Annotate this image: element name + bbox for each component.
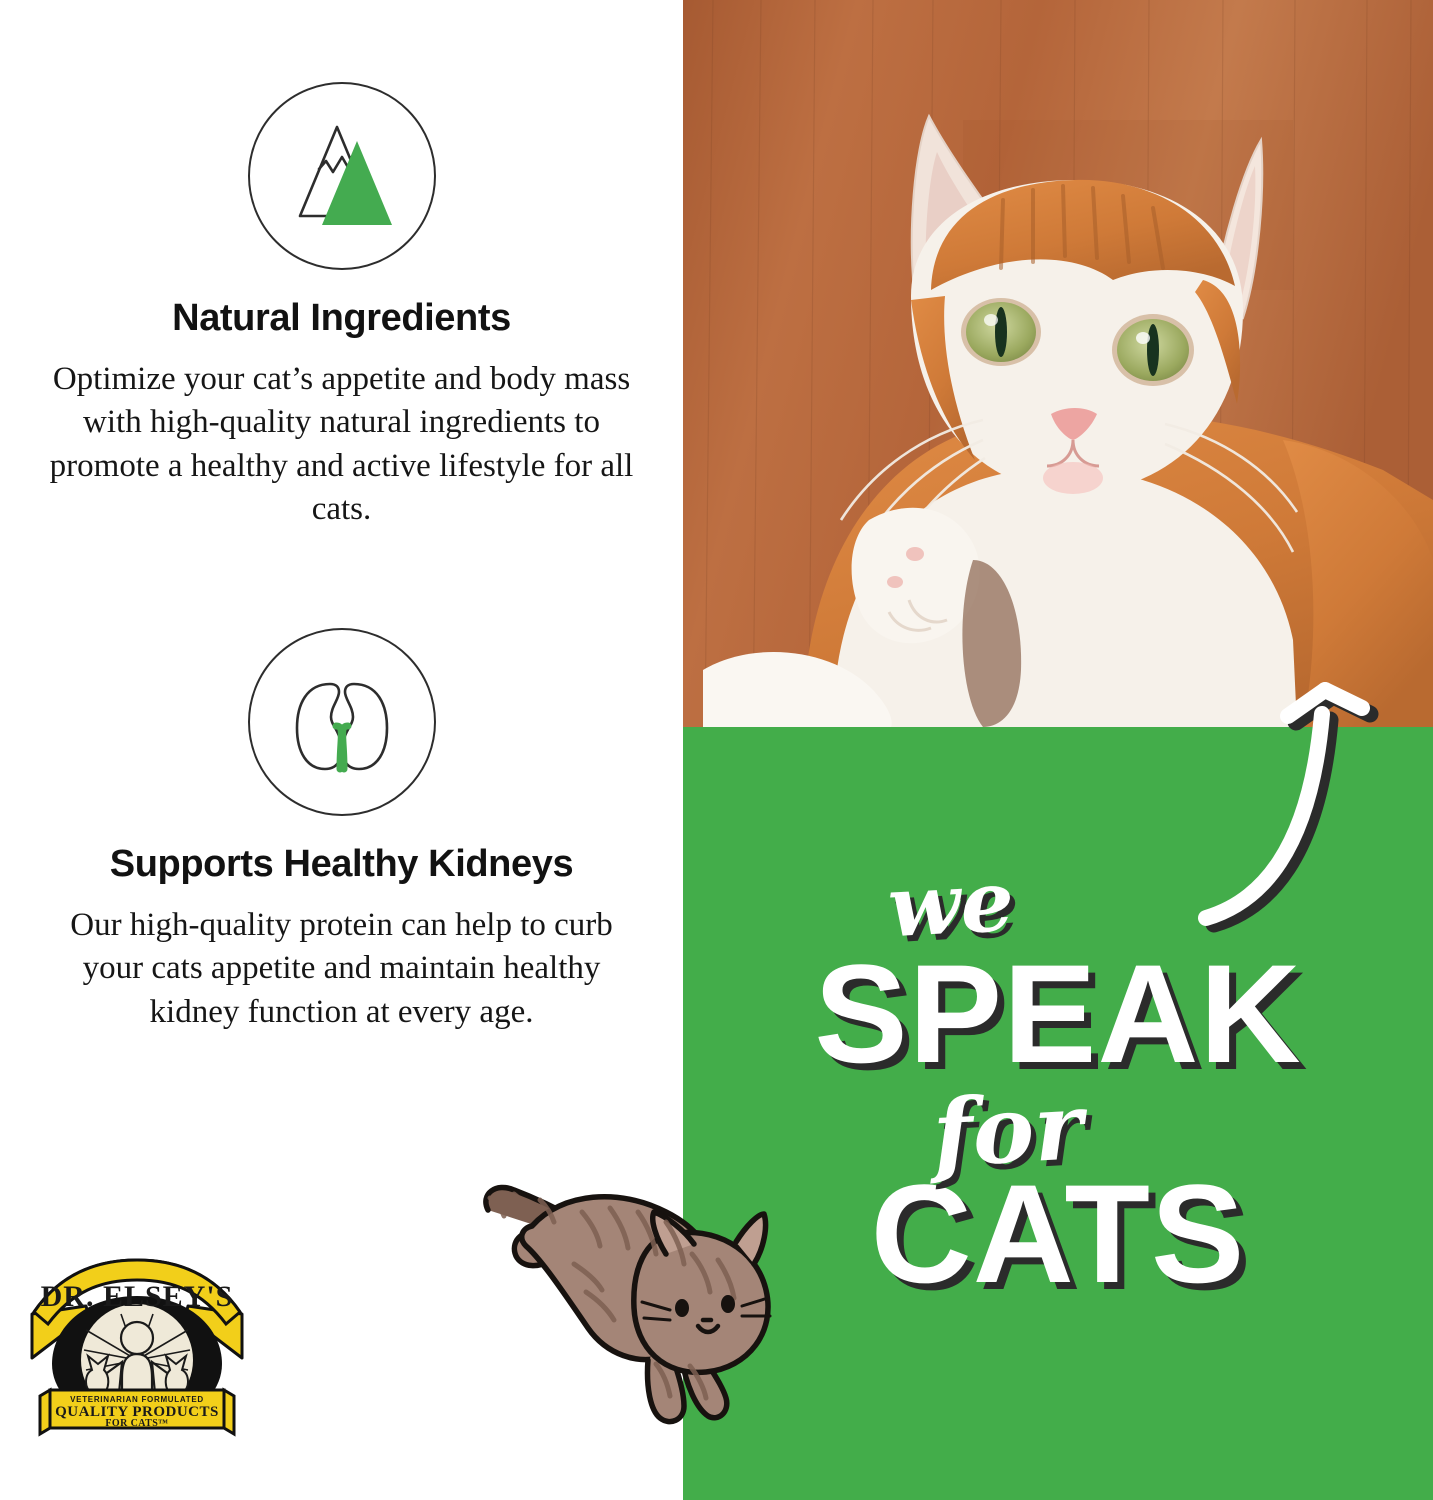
feature-title: Natural Ingredients <box>0 298 683 340</box>
product-feature-infographic: Natural Ingredients Optimize your cat’s … <box>0 0 1433 1500</box>
feature-body: Optimize your cat’s appetite and body ma… <box>32 358 652 532</box>
dr-elseys-logo: DR. ELSEY'S VETERINARIAN FORMULATED QUAL… <box>26 1258 248 1444</box>
hero-cat-photo <box>683 0 1433 727</box>
mountain-icon <box>248 82 436 270</box>
slogan-word-speak: SPEAK <box>683 944 1433 1084</box>
slogan-word-for: for <box>931 1080 1085 1180</box>
feature-title: Supports Healthy Kidneys <box>0 844 683 886</box>
jumping-tabby-cat-illustration <box>470 1168 840 1438</box>
logo-tagline-1: VETERINARIAN FORMULATED <box>70 1395 204 1404</box>
dr-elseys-logo-glyph: DR. ELSEY'S VETERINARIAN FORMULATED QUAL… <box>26 1258 248 1444</box>
kidney-icon <box>248 628 436 816</box>
jumping-cat-glyph <box>470 1168 840 1438</box>
cat-photo-illustration <box>683 0 1433 727</box>
feature-natural-ingredients: Natural Ingredients Optimize your cat’s … <box>0 82 683 532</box>
logo-tagline-3: FOR CATS™ <box>105 1418 168 1429</box>
kidney-icon-glyph <box>267 647 417 797</box>
feature-supports-healthy-kidneys: Supports Healthy Kidneys Our high-qualit… <box>0 628 683 1034</box>
mountain-icon-glyph <box>267 101 417 251</box>
logo-wordmark: DR. ELSEY'S <box>41 1280 234 1313</box>
feature-body: Our high-quality protein can help to cur… <box>62 904 622 1035</box>
